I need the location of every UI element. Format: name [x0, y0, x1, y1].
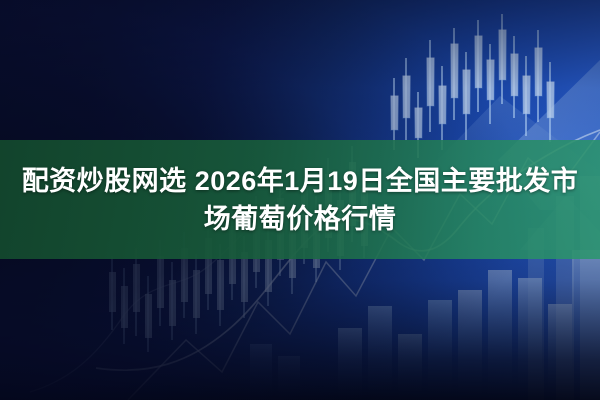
banner-headline: 配资炒股网选 2026年1月19日全国主要批发市 场葡萄价格行情	[0, 140, 600, 259]
headline-line-2: 场葡萄价格行情	[204, 201, 397, 237]
promo-banner-image: 配资炒股网选 2026年1月19日全国主要批发市 场葡萄价格行情	[0, 0, 600, 400]
headline-line-1: 配资炒股网选 2026年1月19日全国主要批发市	[22, 163, 579, 199]
